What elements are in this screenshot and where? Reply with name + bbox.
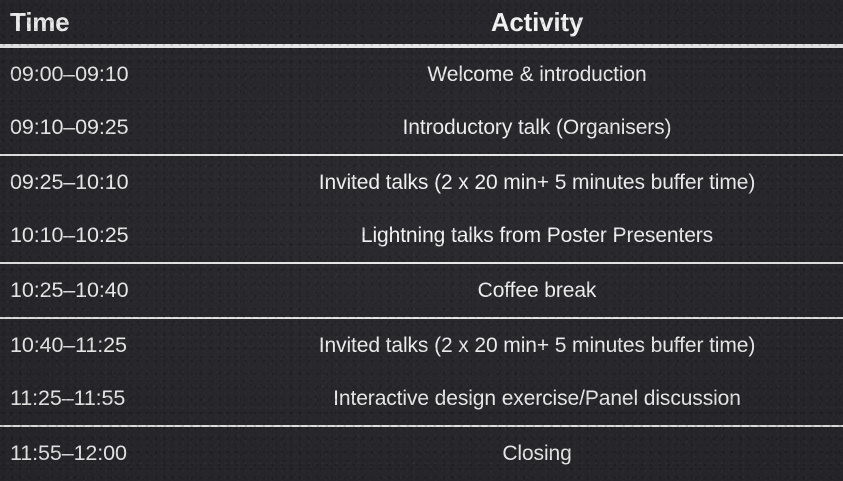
cell-time: 10:25–10:40 [0,263,232,318]
cell-time: 10:10–10:25 [0,209,232,263]
cell-activity: Invited talks (2 x 20 min+ 5 minutes buf… [232,318,843,372]
cell-activity: Introductory talk (Organisers) [232,101,843,155]
cell-time: 09:10–09:25 [0,101,232,155]
schedule-table-container: Time Activity 09:00–09:10 Welcome & intr… [0,0,843,481]
cell-time: 10:40–11:25 [0,318,232,372]
table-row: 11:55–12:00 Closing [0,426,843,480]
table-row: 09:10–09:25 Introductory talk (Organiser… [0,101,843,155]
cell-time: 11:25–11:55 [0,372,232,426]
cell-activity: Interactive design exercise/Panel discus… [232,372,843,426]
column-header-time: Time [0,0,232,46]
cell-activity: Welcome & introduction [232,46,843,101]
cell-activity: Lightning talks from Poster Presenters [232,209,843,263]
table-row: 10:25–10:40 Coffee break [0,263,843,318]
table-row: 10:10–10:25 Lightning talks from Poster … [0,209,843,263]
header-row: Time Activity [0,0,843,46]
table-row: 09:25–10:10 Invited talks (2 x 20 min+ 5… [0,155,843,209]
cell-time: 11:55–12:00 [0,426,232,480]
cell-activity: Closing [232,426,843,480]
cell-time: 09:00–09:10 [0,46,232,101]
schedule-table: Time Activity 09:00–09:10 Welcome & intr… [0,0,843,480]
cell-time: 09:25–10:10 [0,155,232,209]
table-row: 10:40–11:25 Invited talks (2 x 20 min+ 5… [0,318,843,372]
cell-activity: Invited talks (2 x 20 min+ 5 minutes buf… [232,155,843,209]
table-row: 09:00–09:10 Welcome & introduction [0,46,843,101]
table-header: Time Activity [0,0,843,46]
column-header-activity: Activity [232,0,843,46]
table-body: 09:00–09:10 Welcome & introduction 09:10… [0,46,843,480]
table-row: 11:25–11:55 Interactive design exercise/… [0,372,843,426]
cell-activity: Coffee break [232,263,843,318]
